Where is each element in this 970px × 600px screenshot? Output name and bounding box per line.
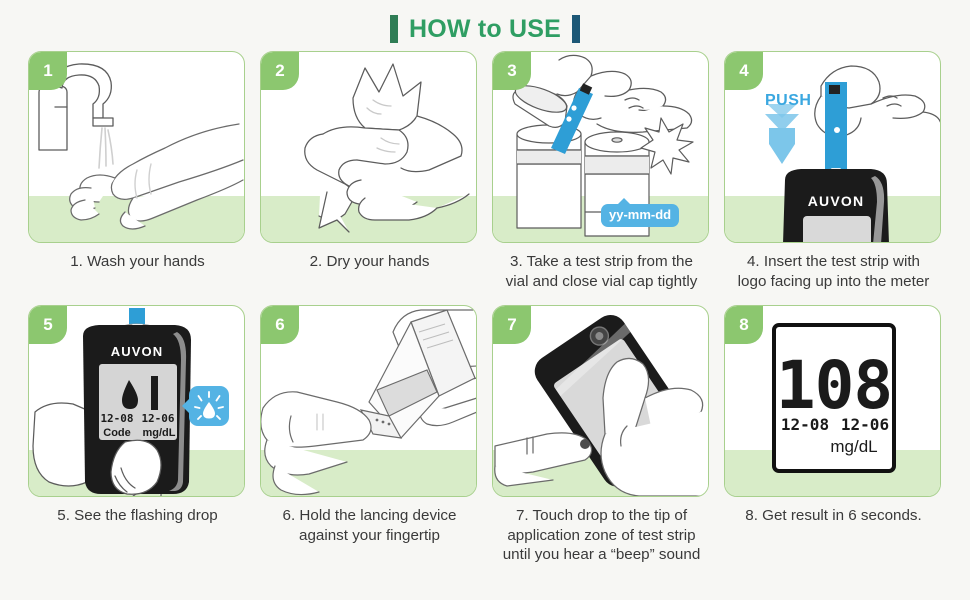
caption-line: logo facing up into the meter (724, 272, 943, 292)
header-bar-right (572, 15, 580, 43)
step-card-4: 4 (724, 51, 943, 291)
step-number-badge-7: 7 (493, 306, 531, 344)
how-to-use-infographic: HOW to USE 1 (0, 0, 970, 600)
caption-line: 1. Wash your hands (28, 252, 247, 272)
caption-line: 4. Insert the test strip with (724, 252, 943, 272)
step-caption-4: 4. Insert the test strip with logo facin… (724, 252, 943, 291)
step-card-5: 5 AUVON (28, 305, 247, 526)
caption-line: application zone of test strip (492, 526, 711, 546)
lcd-unit: mg/dL (830, 437, 877, 456)
step-panel-6: 6 (260, 305, 477, 497)
meter-device: AUVON (783, 168, 889, 243)
meter-brand-label: AUVON (111, 344, 163, 359)
step-caption-5: 5. See the flashing drop (28, 506, 247, 526)
lcd-right-time: 12-06 (841, 415, 889, 434)
caption-line: 7. Touch drop to the tip of (492, 506, 711, 526)
lcd-left-time: 12-08 (100, 412, 133, 425)
step-panel-3: 3 (492, 51, 709, 243)
caption-line: against your fingertip (260, 526, 479, 546)
flashing-drop-icon (189, 386, 229, 426)
step-card-3: 3 (492, 51, 711, 291)
step-panel-5: 5 AUVON (28, 305, 245, 497)
step-caption-7: 7. Touch drop to the tip of application … (492, 506, 711, 565)
step-caption-6: 6. Hold the lancing device against your … (260, 506, 479, 545)
caption-line: until you hear a “beep” sound (492, 545, 711, 565)
flashing-drop-badge (189, 386, 229, 426)
expiry-date-callout: yy-mm-dd (601, 204, 679, 227)
step-panel-8: 8 108 12-08 12-06 mg/dL (724, 305, 941, 497)
step-number-badge-1: 1 (29, 52, 67, 90)
caption-line: 2. Dry your hands (260, 252, 479, 272)
step-card-6: 6 (260, 305, 479, 545)
step-number-badge-5: 5 (29, 306, 67, 344)
header-bar-left (390, 15, 398, 43)
meter-brand-label: AUVON (808, 193, 865, 209)
step-panel-2: 2 (260, 51, 477, 243)
step-caption-2: 2. Dry your hands (260, 252, 479, 272)
steps-grid: 1 (0, 51, 970, 591)
push-label: PUSH (765, 92, 811, 110)
caption-line: vial and close vial cap tightly (492, 272, 711, 292)
page-title: HOW to USE (409, 15, 561, 43)
step-panel-4: 4 (724, 51, 941, 243)
push-arrow-icon (765, 104, 799, 164)
step-caption-1: 1. Wash your hands (28, 252, 247, 272)
step-panel-7: 7 AUVON (492, 305, 709, 497)
step-card-8: 8 108 12-08 12-06 mg/dL 8. Get result in… (724, 305, 943, 526)
lcd-right-time: 12-06 (141, 412, 174, 425)
step-caption-8: 8. Get result in 6 seconds. (724, 506, 943, 526)
caption-line: 8. Get result in 6 seconds. (724, 506, 943, 526)
step-panel-1: 1 (28, 51, 245, 243)
step-card-2: 2 (260, 51, 479, 272)
step-card-1: 1 (28, 51, 247, 272)
lcd-left-time: 12-08 (781, 415, 829, 434)
lcd-left-label: Code (103, 427, 131, 439)
step-number-badge-6: 6 (261, 306, 299, 344)
test-strip (825, 82, 847, 174)
step-caption-3: 3. Take a test strip from the vial and c… (492, 252, 711, 291)
caption-line: 6. Hold the lancing device (260, 506, 479, 526)
step-number-badge-3: 3 (493, 52, 531, 90)
lcd-right-label: mg/dL (143, 427, 176, 439)
header: HOW to USE (0, 12, 970, 46)
caption-line: 5. See the flashing drop (28, 506, 247, 526)
step-number-badge-4: 4 (725, 52, 763, 90)
step-number-badge-8: 8 (725, 306, 763, 344)
caption-line: 3. Take a test strip from the (492, 252, 711, 272)
step-number-badge-2: 2 (261, 52, 299, 90)
step-card-7: 7 AUVON (492, 305, 711, 565)
lcd-reading: 108 (776, 347, 892, 424)
